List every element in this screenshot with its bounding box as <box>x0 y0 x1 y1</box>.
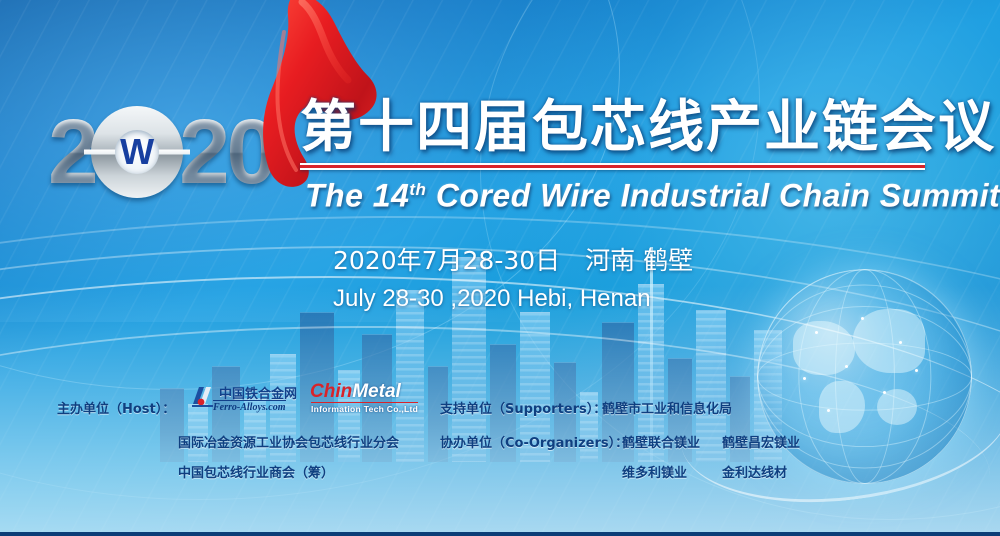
year-2020-logo: 2 W 2 0 <box>48 106 274 198</box>
co-organizer-2: 鹤壁昌宏镁业 <box>722 432 800 451</box>
supporters-label: 支持单位（Supporters）： <box>440 398 606 417</box>
sweep-curve-3 <box>0 326 990 536</box>
bottom-light-sweep <box>0 286 1000 536</box>
w-badge-letter: W <box>91 128 183 176</box>
host-label: 主办单位（Host）： <box>57 398 175 417</box>
chinmetal-part-metal: Metal <box>352 381 401 402</box>
chinmetal-part-chin: Chin <box>310 381 352 402</box>
co-organizer-4: 金利达线材 <box>722 462 787 481</box>
title-en-prefix: The 14 <box>305 178 409 214</box>
chinmetal-wordmark: ChinMetal <box>310 382 401 402</box>
ferro-alloys-name-en: Ferro-Alloys.com <box>213 400 286 413</box>
bottom-frame-line <box>0 532 1000 536</box>
w-badge-icon: W <box>91 106 183 198</box>
co-organizer-1: 鹤壁联合镁业 <box>622 432 700 451</box>
chinmetal-subtitle: Information Tech Co.,Ltd <box>311 402 418 414</box>
ferro-alloys-logo[interactable]: 中国铁合金网 Ferro-Alloys.com <box>190 383 295 413</box>
host-org-1: 国际冶金资源工业协会包芯线行业分会 <box>178 432 399 451</box>
co-organizers-label: 协办单位（Co-Organizers）： <box>440 432 628 451</box>
title-divider-rule <box>300 163 925 170</box>
co-organizer-3: 维多利镁业 <box>622 462 687 481</box>
event-date-chinese: 2020年7月28-30日 河南 鹤壁 <box>333 245 693 277</box>
sweep-curve-1 <box>0 276 1000 536</box>
page-title-chinese: 第十四届包芯线产业链会议 <box>300 96 996 160</box>
globe-swoosh <box>672 330 1000 519</box>
supporters-value: 鹤壁市工业和信息化局 <box>602 398 732 417</box>
chinmetal-logo[interactable]: ChinMetal Information Tech Co.,Ltd <box>310 382 432 414</box>
title-en-ordinal: th <box>409 180 426 199</box>
globe-icon <box>757 269 972 484</box>
page-title-english: The 14th Cored Wire Industrial Chain Sum… <box>305 170 1000 216</box>
event-date-english: July 28-30 ,2020 Hebi, Henan <box>333 283 651 315</box>
year-digit-0-last: 0 <box>226 106 273 198</box>
title-en-rest: Cored Wire Industrial Chain Summit <box>426 178 1000 214</box>
conference-banner: 2 W 2 0 第十四届包芯线产业链会议 The <box>0 0 1000 536</box>
year-digit-2-second: 2 <box>179 106 226 198</box>
host-org-2: 中国包芯线行业商会（筹） <box>178 462 334 481</box>
